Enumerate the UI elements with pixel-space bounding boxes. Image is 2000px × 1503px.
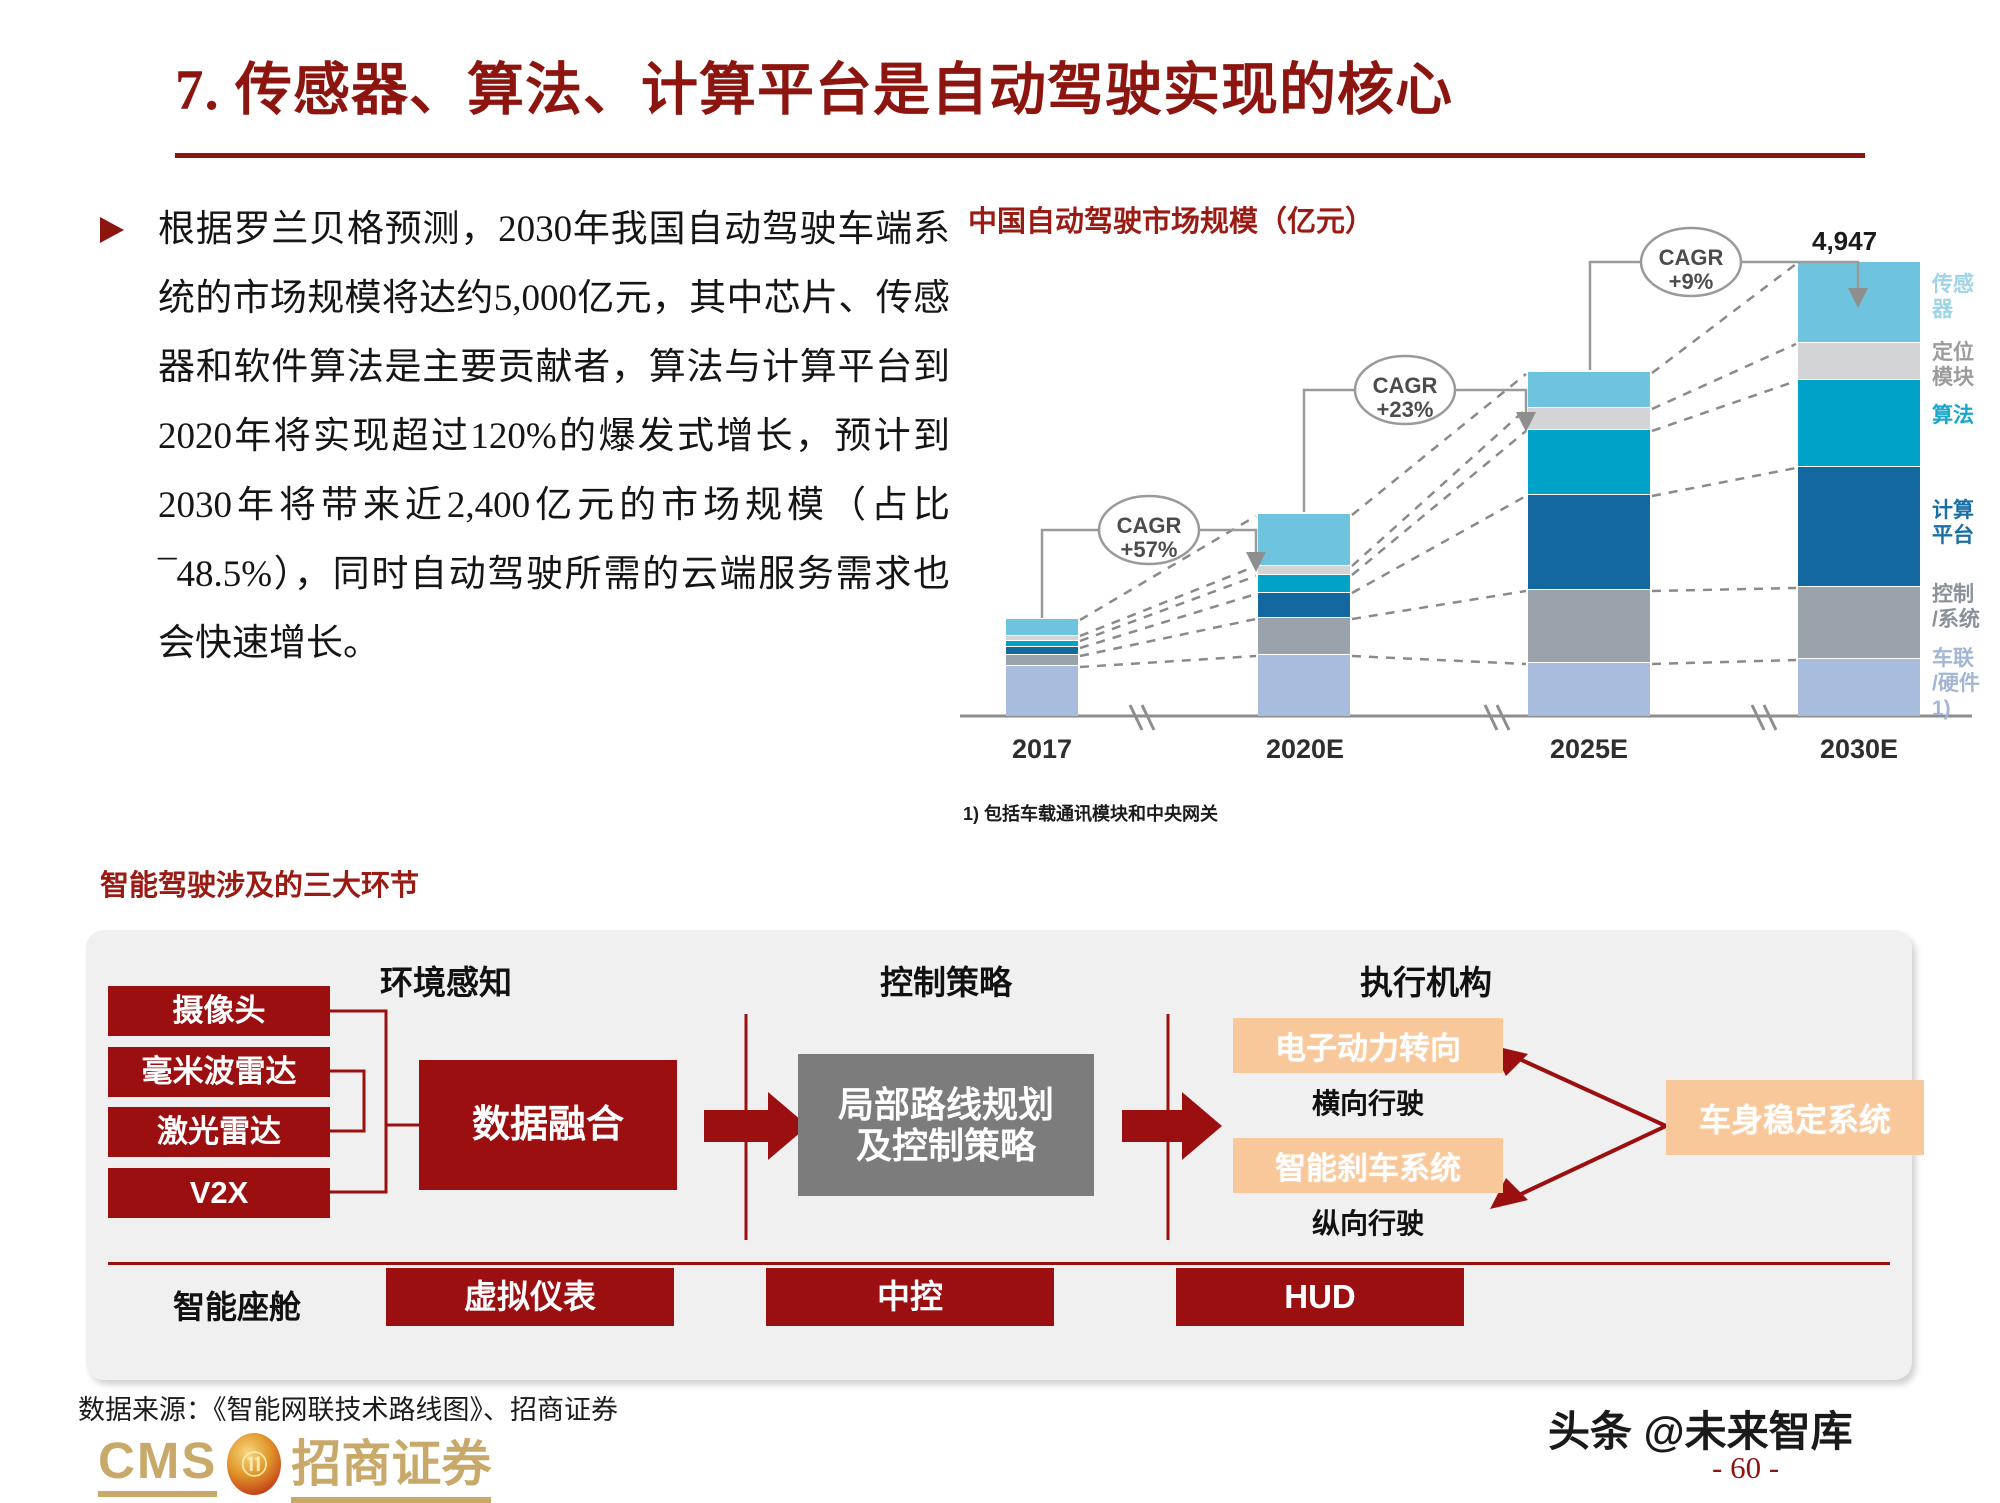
body-text-block: 根据罗兰贝格预测，2030年我国自动驾驶车端系统的市场规模将达约5,000亿元，…	[100, 195, 950, 678]
market-size-chart: CAGR +57% CAGR +23% CAGR +9% 4,947 2017 …	[960, 200, 1990, 840]
actuator-sub-longitudinal: 纵向行驶	[1233, 1202, 1503, 1242]
bar-total-label-2030E: 4,947	[1812, 226, 1877, 257]
bar-2025E	[1528, 372, 1650, 716]
page-title: 7. 传感器、算法、计算平台是自动驾驶实现的核心	[175, 55, 1865, 127]
actuator-electric-power-steering[interactable]: 电子动力转向	[1233, 1018, 1503, 1073]
cms-logo-name: 招商证券	[291, 1424, 491, 1503]
cms-logo: CMS ⑪ 招商证券	[98, 1424, 491, 1503]
legend-item-control-system: 控制 /系统	[1932, 582, 1980, 632]
stage-heading-perception: 环境感知	[286, 956, 606, 1004]
data-fusion-box[interactable]: 数据融合	[419, 1060, 677, 1190]
bullet-arrow-icon	[100, 217, 124, 243]
watermark: 头条 @未来智库	[1548, 1398, 1853, 1459]
title-bar: 7. 传感器、算法、计算平台是自动驾驶实现的核心	[175, 55, 1865, 150]
diagram-caption: 智能驾驶涉及的三大环节	[100, 862, 419, 904]
route-planning-control-box[interactable]: 局部路线规划 及控制策略	[798, 1054, 1094, 1196]
cagr-label-2025-2030: CAGR +9%	[1641, 246, 1741, 294]
axis-label-2030E: 2030E	[1794, 734, 1924, 765]
legend-item-vehicle-network-hardware: 车联 /硬件1)	[1932, 646, 1990, 721]
cabin-item-virtual-cluster[interactable]: 虚拟仪表	[386, 1268, 674, 1326]
bar-2020E	[1258, 514, 1350, 716]
bar-2017	[1006, 619, 1078, 716]
perception-input-mmwave-radar[interactable]: 毫米波雷达	[108, 1047, 330, 1097]
page-number: - 60 -	[1712, 1450, 1779, 1486]
perception-input-lidar[interactable]: 激光雷达	[108, 1107, 330, 1157]
legend-item-positioning: 定位模块	[1932, 340, 1990, 390]
axis-label-2017: 2017	[982, 734, 1102, 765]
cabin-divider	[108, 1262, 1890, 1265]
body-paragraph: 根据罗兰贝格预测，2030年我国自动驾驶车端系统的市场规模将达约5,000亿元，…	[158, 195, 950, 678]
cabin-label: 智能座舱	[122, 1282, 352, 1328]
perception-input-camera[interactable]: 摄像头	[108, 986, 330, 1036]
legend-item-sensor: 传感器	[1932, 272, 1990, 322]
axis-label-2025E: 2025E	[1524, 734, 1654, 765]
chart-footnote: 1) 包括车载通讯模块和中央网关	[963, 800, 1218, 826]
actuator-intelligent-braking[interactable]: 智能刹车系统	[1233, 1138, 1503, 1193]
source-note: 数据来源：《智能网联技术路线图》、招商证券	[78, 1388, 618, 1427]
cabin-item-center-console[interactable]: 中控	[766, 1268, 1054, 1326]
body-stability-system-box[interactable]: 车身稳定系统	[1666, 1080, 1924, 1155]
cabin-item-hud[interactable]: HUD	[1176, 1268, 1464, 1326]
cagr-label-2020-2025: CAGR +23%	[1355, 374, 1455, 422]
cagr-label-2017-2020: CAGR +57%	[1099, 514, 1199, 562]
three-stage-diagram: 环境感知 控制策略 执行机构 摄像头 毫米波雷达 激光雷达 V2X 数据融合 局…	[86, 930, 1912, 1380]
stage-heading-control: 控制策略	[786, 956, 1106, 1004]
cms-logo-orb-icon: ⑪	[227, 1433, 281, 1495]
axis-label-2020E: 2020E	[1240, 734, 1370, 765]
legend-item-compute-platform: 计算平台	[1932, 498, 1990, 548]
actuator-sub-lateral: 横向行驶	[1233, 1082, 1503, 1122]
stage-heading-execution: 执行机构	[1266, 956, 1586, 1004]
cms-logo-mark: CMS	[98, 1431, 217, 1497]
perception-input-v2x[interactable]: V2X	[108, 1168, 330, 1218]
bar-2030E	[1798, 262, 1920, 716]
title-divider	[175, 153, 1865, 158]
legend-item-algorithm: 算法	[1932, 403, 1974, 428]
